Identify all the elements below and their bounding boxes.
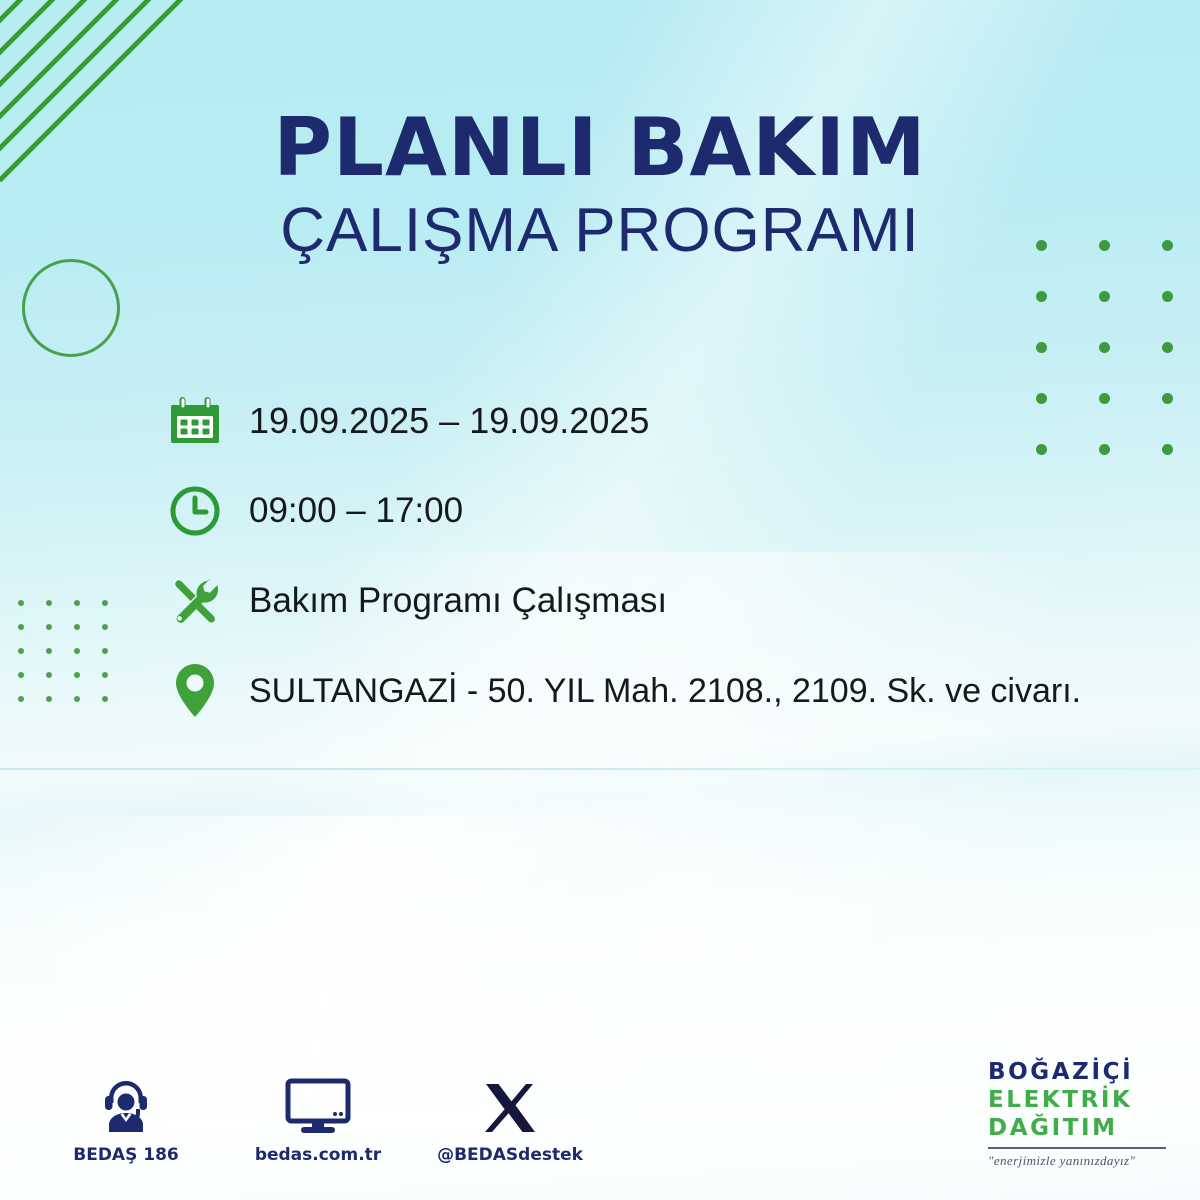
info-row-address: SULTANGAZİ - 50. YIL Mah. 2108., 2109. S…	[163, 646, 1173, 736]
dot	[102, 696, 108, 702]
poster-canvas: PLANLI BAKIM ÇALIŞMA PROGRAMI	[0, 0, 1200, 1200]
dot	[1099, 342, 1110, 353]
footer-contacts: BEDAŞ 186 bedas.com.tr @BEDASdestek	[56, 1072, 580, 1165]
contact-phone[interactable]: BEDAŞ 186	[56, 1072, 196, 1165]
dot	[1036, 291, 1047, 302]
info-row-date: 19.09.2025 – 19.09.2025	[163, 376, 1173, 466]
contact-social[interactable]: @BEDASdestek	[440, 1072, 580, 1165]
contact-website-label: bedas.com.tr	[255, 1145, 381, 1165]
address-text: SULTANGAZİ - 50. YIL Mah. 2108., 2109. S…	[249, 672, 1081, 711]
location-pin-icon	[163, 659, 227, 723]
brand-tagline: "enerjimizle yanınızdayız"	[988, 1153, 1178, 1169]
dot	[1036, 342, 1047, 353]
dot	[46, 672, 52, 678]
dot	[74, 624, 80, 630]
info-row-time: 09:00 – 17:00	[163, 466, 1173, 556]
dot	[1099, 291, 1110, 302]
dot	[1162, 291, 1173, 302]
page-subtitle: ÇALIŞMA PROGRAMI	[0, 198, 1200, 263]
dot	[46, 600, 52, 606]
dot	[74, 696, 80, 702]
page-title-block: PLANLI BAKIM ÇALIŞMA PROGRAMI	[0, 108, 1200, 263]
dot-grid-left-decoration	[18, 600, 108, 702]
monitor-icon	[285, 1072, 351, 1136]
dot	[18, 648, 24, 654]
dot	[74, 600, 80, 606]
brand-line-bogazici: BOĞAZİÇİ	[988, 1058, 1178, 1086]
dot	[46, 648, 52, 654]
dot	[102, 624, 108, 630]
dot	[102, 600, 108, 606]
info-row-work-type: Bakım Programı Çalışması	[163, 556, 1173, 646]
work-type-text: Bakım Programı Çalışması	[249, 581, 667, 621]
brand-divider	[988, 1147, 1166, 1149]
dot	[74, 648, 80, 654]
contact-social-label: @BEDASdestek	[437, 1145, 583, 1165]
contact-phone-label: BEDAŞ 186	[73, 1145, 179, 1165]
page-title: PLANLI BAKIM	[0, 108, 1200, 188]
support-agent-icon	[96, 1072, 156, 1136]
dot	[46, 624, 52, 630]
dot	[1162, 342, 1173, 353]
contact-website[interactable]: bedas.com.tr	[248, 1072, 388, 1165]
clock-icon	[163, 479, 227, 543]
dot	[18, 696, 24, 702]
circle-outline-decoration	[22, 259, 120, 357]
dot	[18, 624, 24, 630]
outage-info-list: 19.09.2025 – 19.09.2025 09:00 – 17:00	[163, 376, 1173, 736]
x-twitter-icon	[482, 1072, 538, 1136]
calendar-icon	[163, 389, 227, 453]
dot	[18, 600, 24, 606]
background-horizon-line	[0, 768, 1200, 770]
brand-logo: BOĞAZİÇİ ELEKTRİK DAĞITIM "enerjimizle y…	[988, 1058, 1178, 1169]
dot	[46, 696, 52, 702]
brand-line-dagitim: DAĞITIM	[988, 1114, 1178, 1142]
brand-line-elektrik: ELEKTRİK	[988, 1086, 1178, 1114]
date-range-text: 19.09.2025 – 19.09.2025	[249, 400, 649, 442]
dot	[74, 672, 80, 678]
tools-icon	[163, 569, 227, 633]
dot	[18, 672, 24, 678]
dot	[102, 672, 108, 678]
time-range-text: 09:00 – 17:00	[249, 491, 463, 531]
dot	[102, 648, 108, 654]
